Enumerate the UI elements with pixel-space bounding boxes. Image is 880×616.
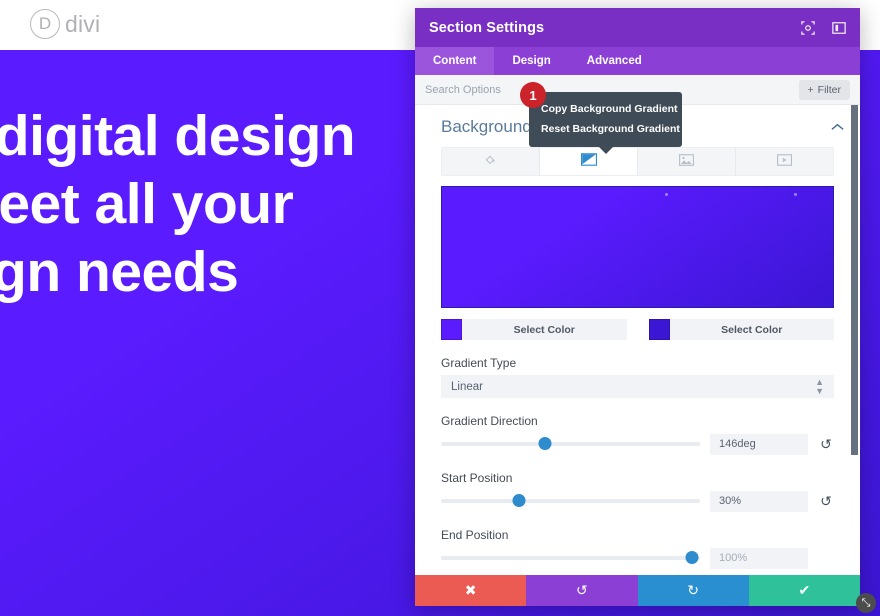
- gradient-color-row: Select Color Select Color: [441, 319, 834, 340]
- tab-content[interactable]: Content: [415, 47, 494, 75]
- paint-bucket-icon: [484, 153, 497, 171]
- modal-tab-bar: Content Design Advanced: [415, 47, 860, 75]
- start-position-slider[interactable]: [441, 499, 700, 503]
- filter-button[interactable]: + Filter: [799, 80, 850, 100]
- save-button[interactable]: ✔: [749, 575, 860, 606]
- gradient-direction-input[interactable]: 146deg: [710, 434, 808, 455]
- gradient-type-label: Gradient Type: [441, 356, 834, 370]
- plus-icon: +: [808, 84, 814, 96]
- undo-button[interactable]: ↺: [526, 575, 637, 606]
- gradient-direction-row: 146deg ↺: [441, 433, 834, 455]
- slider-knob[interactable]: [512, 494, 525, 507]
- cancel-button[interactable]: ✖: [415, 575, 526, 606]
- tab-design[interactable]: Design: [494, 47, 568, 75]
- gradient-color-field-2[interactable]: Select Color: [649, 319, 835, 340]
- settings-scroll-content: Background: [415, 105, 860, 575]
- chevron-up-icon[interactable]: [831, 120, 844, 134]
- gradient-direction-label: Gradient Direction: [441, 414, 834, 428]
- background-video-tab[interactable]: [736, 148, 833, 175]
- focus-target-icon[interactable]: [801, 21, 815, 35]
- background-color-tab[interactable]: [442, 148, 540, 175]
- resize-arrow-icon: ⤡: [862, 597, 871, 610]
- start-position-input[interactable]: 30%: [710, 491, 808, 512]
- start-position-row: 30% ↺: [441, 490, 834, 512]
- gradient-direction-slider[interactable]: [441, 442, 700, 446]
- gradient-type-value: Linear: [451, 381, 483, 393]
- end-position-row: 100%: [441, 547, 834, 569]
- color-swatch-2[interactable]: [649, 319, 670, 340]
- copy-background-gradient-item[interactable]: Copy Background Gradient: [529, 99, 682, 119]
- reset-icon-start[interactable]: ↺: [818, 493, 834, 510]
- step-badge: 1: [520, 82, 546, 108]
- layout-split-icon[interactable]: [832, 21, 846, 35]
- gradient-type-select[interactable]: Linear ▲▼: [441, 375, 834, 398]
- background-image-tab[interactable]: [638, 148, 736, 175]
- resize-handle-icon[interactable]: ⤡: [856, 593, 876, 613]
- site-logo[interactable]: D divi: [30, 9, 100, 39]
- undo-icon: ↺: [576, 582, 588, 599]
- select-color-button-1[interactable]: Select Color: [462, 319, 627, 340]
- tab-advanced[interactable]: Advanced: [569, 47, 660, 75]
- modal-title-bar[interactable]: Section Settings: [415, 8, 860, 47]
- modal-action-bar: ✖ ↺ ↻ ✔: [415, 575, 860, 606]
- gradient-preview[interactable]: [441, 186, 834, 308]
- divi-logo-icon: D: [30, 9, 60, 39]
- background-gradient-tab[interactable]: [540, 148, 638, 175]
- background-type-tabs: [441, 147, 834, 176]
- video-icon: [777, 153, 792, 171]
- gradient-stop-handle-2[interactable]: [794, 193, 797, 196]
- scrollbar-thumb[interactable]: [851, 105, 858, 455]
- settings-panel-body: Background: [415, 105, 860, 575]
- app-root: D divi re a digital design to meet all y…: [0, 0, 880, 616]
- reset-icon-direction[interactable]: ↺: [818, 436, 834, 453]
- slider-knob[interactable]: [686, 551, 699, 564]
- end-position-slider[interactable]: [441, 556, 700, 560]
- check-icon: ✔: [799, 582, 811, 599]
- image-icon: [679, 153, 694, 171]
- tooltip-arrow-icon: [598, 146, 614, 154]
- start-position-label: Start Position: [441, 471, 834, 485]
- end-position-label: End Position: [441, 528, 834, 542]
- gradient-icon: [581, 153, 597, 171]
- gradient-color-field-1[interactable]: Select Color: [441, 319, 627, 340]
- gradient-stop-handle-1[interactable]: [665, 193, 668, 196]
- site-logo-text: divi: [65, 11, 100, 38]
- panel-scrollbar[interactable]: [851, 105, 858, 575]
- slider-knob[interactable]: [538, 437, 551, 450]
- redo-button[interactable]: ↻: [638, 575, 749, 606]
- reset-background-gradient-item[interactable]: Reset Background Gradient: [529, 119, 682, 139]
- color-swatch-1[interactable]: [441, 319, 462, 340]
- page-title: Section Settings: [429, 20, 544, 36]
- redo-icon: ↻: [687, 582, 699, 599]
- chevron-updown-icon: ▲▼: [815, 378, 824, 396]
- section-title: Background: [441, 117, 532, 137]
- filter-button-label: Filter: [818, 84, 841, 96]
- background-gradient-context-menu: Copy Background Gradient Reset Backgroun…: [529, 92, 682, 147]
- select-color-button-2[interactable]: Select Color: [670, 319, 835, 340]
- close-icon: ✖: [465, 582, 477, 599]
- end-position-input[interactable]: 100%: [710, 548, 808, 569]
- modal-title-icons: [801, 21, 846, 35]
